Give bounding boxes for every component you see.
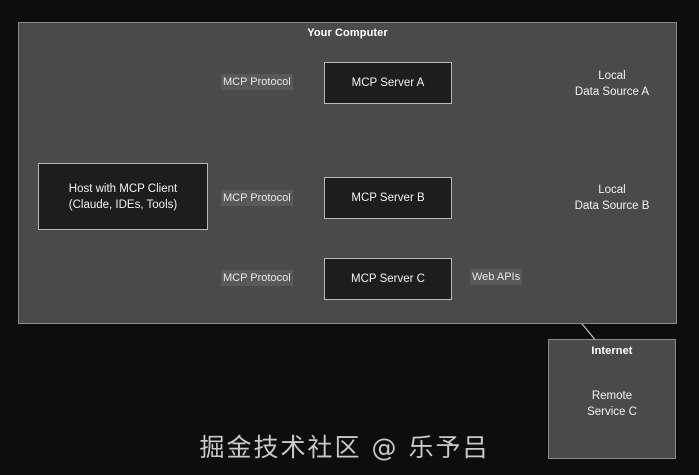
node-data-source-a-line2: Data Source A — [562, 84, 662, 100]
node-remote-service-c-line1: Remote — [573, 388, 651, 404]
node-local-data-source-a[interactable]: Local Data Source A — [562, 46, 662, 121]
diagram-canvas: Your Computer Internet Host with MCP Cli… — [0, 0, 699, 475]
edge-label-mcp-protocol-b: MCP Protocol — [221, 190, 293, 206]
node-remote-service-c-line2: Service C — [573, 404, 651, 420]
node-local-data-source-b[interactable]: Local Data Source B — [562, 160, 662, 235]
node-host-line1: Host with MCP Client — [69, 181, 177, 197]
edge-label-mcp-protocol-a: MCP Protocol — [221, 74, 293, 90]
watermark-text: 掘金技术社区 @ 乐予吕 — [0, 428, 699, 464]
node-mcp-server-b-label: MCP Server B — [351, 190, 424, 206]
node-host-with-mcp-client[interactable]: Host with MCP Client (Claude, IDEs, Tool… — [38, 163, 208, 230]
internet-title: Internet — [549, 345, 675, 357]
edge-label-mcp-protocol-c: MCP Protocol — [221, 270, 293, 286]
node-data-source-a-line1: Local — [562, 68, 662, 84]
node-data-source-b-line2: Data Source B — [562, 198, 662, 214]
your-computer-title: Your Computer — [19, 27, 676, 39]
node-mcp-server-b[interactable]: MCP Server B — [324, 177, 452, 219]
node-mcp-server-a-label: MCP Server A — [352, 75, 425, 91]
edge-label-web-apis: Web APIs — [470, 269, 522, 285]
node-data-source-b-line1: Local — [562, 182, 662, 198]
node-mcp-server-c[interactable]: MCP Server C — [324, 258, 452, 300]
node-mcp-server-a[interactable]: MCP Server A — [324, 62, 452, 104]
node-host-line2: (Claude, IDEs, Tools) — [69, 197, 177, 213]
node-mcp-server-c-label: MCP Server C — [351, 271, 425, 287]
